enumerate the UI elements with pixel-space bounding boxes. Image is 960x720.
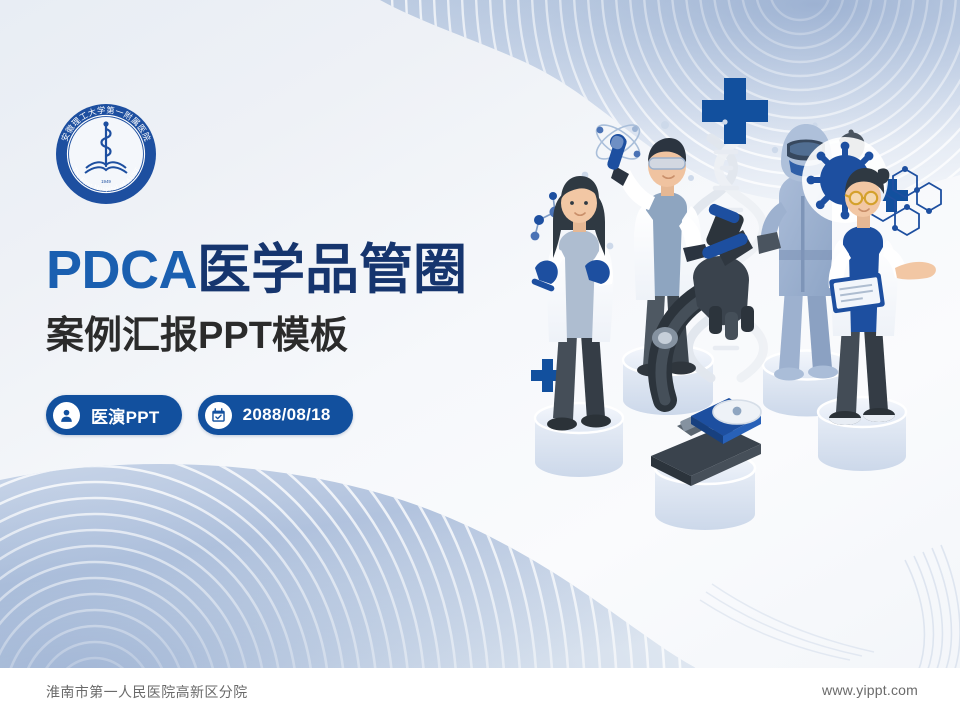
right-edge-texture bbox=[905, 545, 960, 672]
slide-footer: 淮南市第一人民医院高新区分院 www.yippt.com bbox=[0, 668, 960, 720]
medical-research-team-illustration bbox=[515, 70, 960, 530]
footer-organization: 淮南市第一人民医院高新区分院 bbox=[46, 682, 248, 702]
hospital-logo: 安徽理工大学第一附属医院 The First Hospital of AUST … bbox=[52, 100, 160, 208]
author-badge[interactable]: 医演PPT bbox=[46, 395, 182, 435]
svg-text:1949: 1949 bbox=[101, 179, 111, 184]
title-block: PDCA医学品管圈 案例汇报PPT模板 bbox=[46, 242, 566, 359]
page-title: PDCA医学品管圈 bbox=[46, 242, 566, 298]
page-subtitle: 案例汇报PPT模板 bbox=[46, 304, 566, 359]
date-badge[interactable]: 2088/08/18 bbox=[198, 395, 353, 435]
user-icon bbox=[53, 402, 80, 429]
pedestal-front-left bbox=[535, 403, 623, 477]
clipboard bbox=[829, 273, 885, 314]
mid-bottom-texture bbox=[700, 584, 874, 660]
meta-badges: 医演PPT 2088/08/18 bbox=[46, 395, 353, 435]
presentation-slide: 安徽理工大学第一附属医院 The First Hospital of AUST … bbox=[0, 0, 960, 720]
calendar-icon bbox=[205, 402, 232, 429]
title-han: 医学品管圈 bbox=[197, 240, 467, 300]
author-badge-label: 医演PPT bbox=[91, 403, 160, 428]
date-badge-label: 2088/08/18 bbox=[243, 405, 331, 425]
title-latin: PDCA bbox=[46, 240, 197, 300]
footer-website[interactable]: www.yippt.com bbox=[822, 682, 918, 698]
pedestal-front-right bbox=[818, 397, 906, 471]
female-scientist-with-test-tube bbox=[531, 176, 613, 431]
